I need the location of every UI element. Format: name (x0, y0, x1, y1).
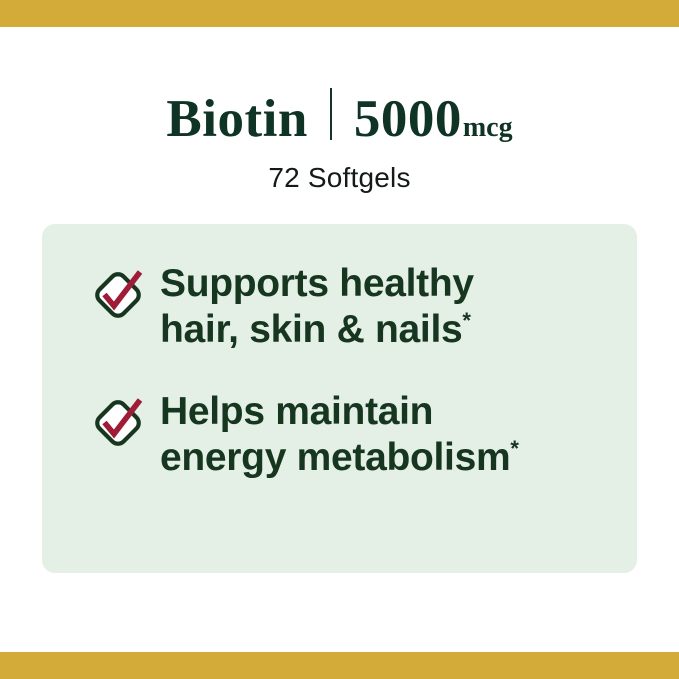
benefit-text: Supports healthy hair, skin & nails* (160, 261, 474, 353)
gold-rule-bottom (0, 652, 679, 679)
softgel-count: 72 Softgels (268, 162, 410, 194)
benefit-item: Helps maintain energy metabolism* (90, 389, 607, 481)
product-name: Biotin (166, 93, 307, 146)
benefits-card: Supports healthy hair, skin & nails* Hel… (42, 224, 637, 573)
benefit-line-1: Helps maintain (160, 390, 433, 433)
product-infographic: Biotin 5000 mcg 72 Softgels Supports hea… (0, 0, 679, 679)
dose-amount: 5000 (354, 93, 462, 146)
benefit-line-1: Supports healthy (160, 262, 474, 305)
benefit-line-2: hair, skin & nails (160, 308, 462, 351)
content-area: Biotin 5000 mcg 72 Softgels Supports hea… (0, 27, 679, 652)
check-diamond-icon (90, 265, 146, 321)
gold-rule-top (0, 0, 679, 27)
dose-unit: mcg (463, 114, 513, 142)
footnote-marker: * (462, 308, 470, 333)
title-divider-icon (330, 88, 332, 140)
page-title: Biotin 5000 mcg (166, 84, 512, 146)
check-diamond-icon (90, 393, 146, 449)
benefit-text: Helps maintain energy metabolism* (160, 389, 519, 481)
footnote-marker: * (510, 436, 518, 461)
benefit-item: Supports healthy hair, skin & nails* (90, 261, 607, 353)
benefit-line-2: energy metabolism (160, 436, 510, 479)
